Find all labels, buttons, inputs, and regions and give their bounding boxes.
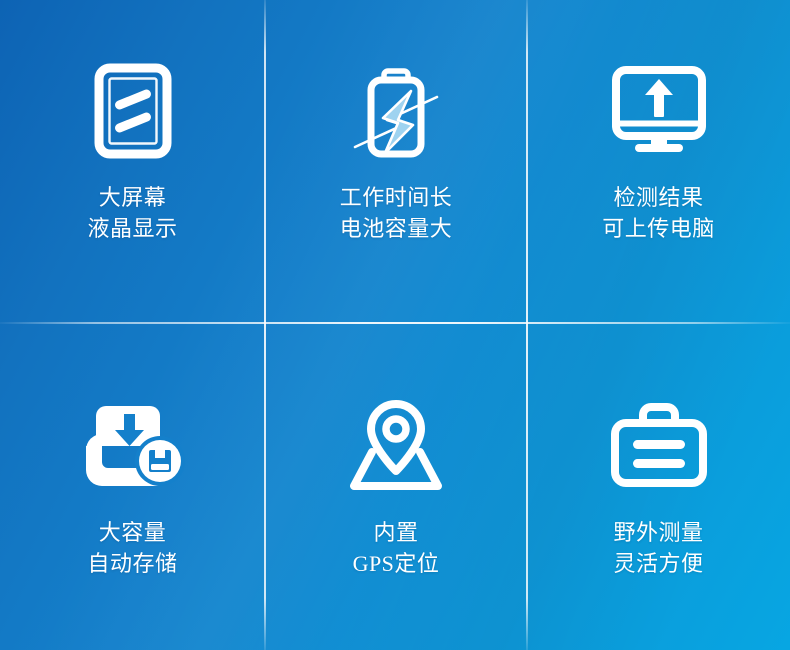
feature-cell-long-battery[interactable]: 工作时间长 电池容量大 <box>265 0 527 323</box>
battery-bolt-icon <box>341 57 451 165</box>
map-pin-icon <box>341 393 451 497</box>
briefcase-icon <box>604 393 714 497</box>
feature-grid: 大屏幕 液晶显示 工作时间长 电池容量大 <box>0 0 790 650</box>
feature-label: 野外测量 灵活方便 <box>613 517 703 579</box>
feature-label: 检测结果 可上传电脑 <box>602 182 715 244</box>
feature-cell-upload-to-pc[interactable]: 检测结果 可上传电脑 <box>527 0 790 323</box>
feature-label: 大容量 自动存储 <box>87 517 177 579</box>
feature-cell-field-survey[interactable]: 野外测量 灵活方便 <box>527 323 790 650</box>
feature-cell-auto-storage[interactable]: 大容量 自动存储 <box>0 323 265 650</box>
feature-label: 内置 GPS定位 <box>353 517 440 579</box>
feature-cell-built-in-gps[interactable]: 内置 GPS定位 <box>265 323 527 650</box>
inbox-save-icon <box>78 393 188 497</box>
feature-label: 大屏幕 液晶显示 <box>87 182 177 244</box>
lcd-screen-icon <box>78 57 188 165</box>
feature-cell-large-screen[interactable]: 大屏幕 液晶显示 <box>0 0 265 323</box>
feature-grid-panel: 大屏幕 液晶显示 工作时间长 电池容量大 <box>0 0 790 650</box>
monitor-upload-icon <box>604 57 714 165</box>
feature-label: 工作时间长 电池容量大 <box>340 182 453 244</box>
